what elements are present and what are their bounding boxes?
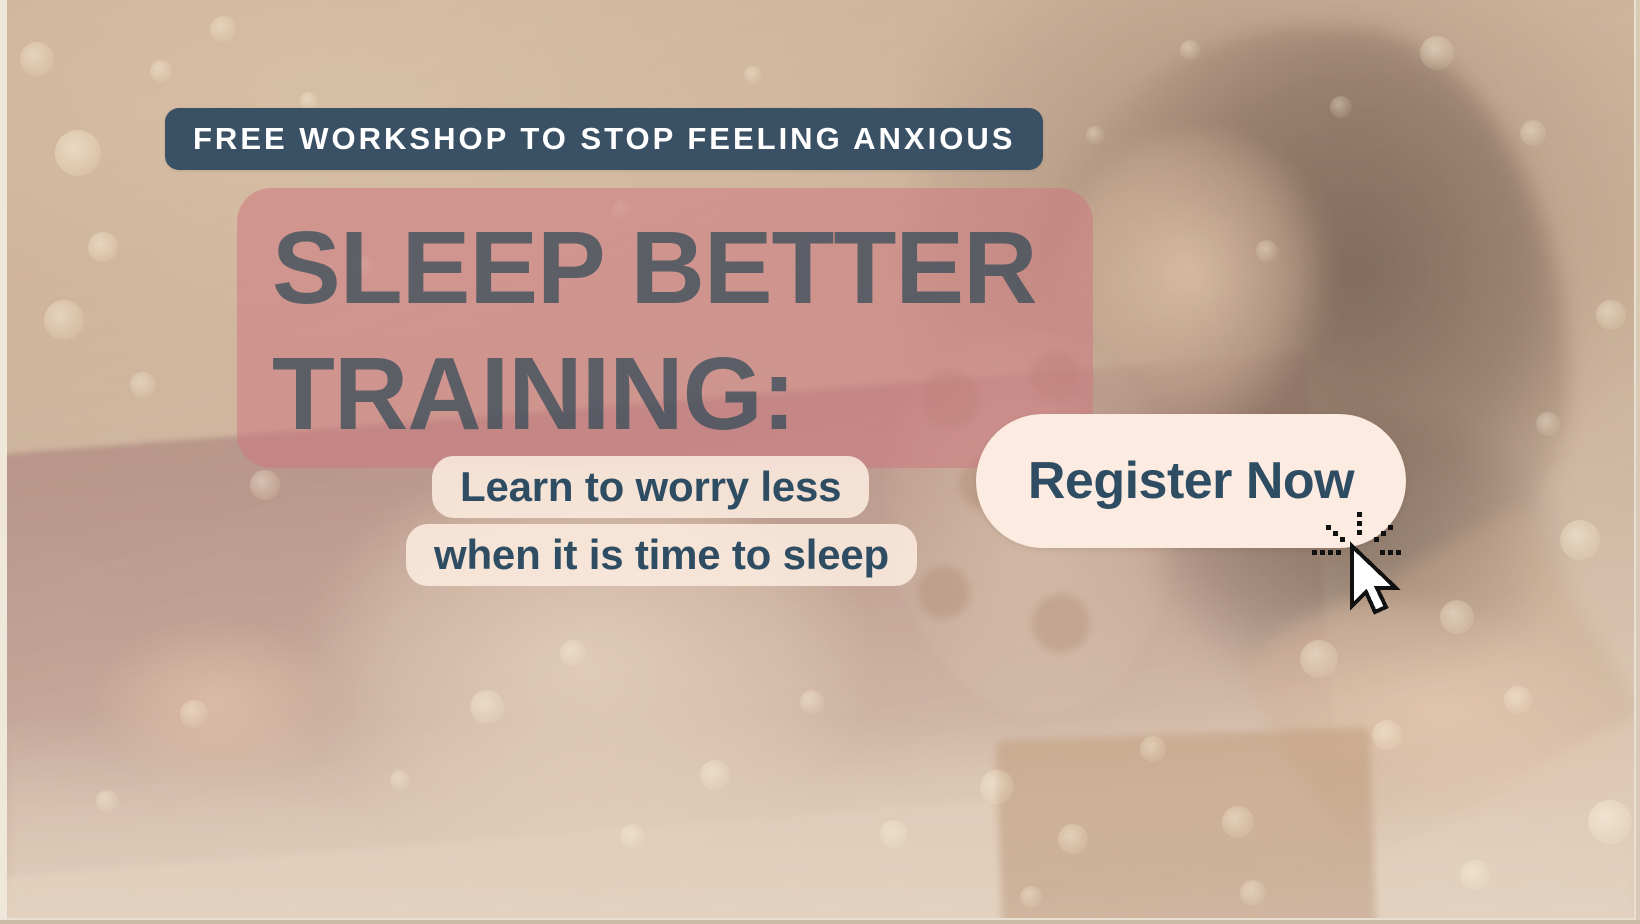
page-title: SLEEP BETTER TRAINING:	[272, 205, 1102, 457]
eyebrow-banner-label: FREE WORKSHOP TO STOP FEELING ANXIOUS	[193, 121, 1015, 157]
banner-canvas: FREE WORKSHOP TO STOP FEELING ANXIOUS SL…	[0, 0, 1640, 924]
subtitle-line-2: when it is time to sleep	[406, 524, 917, 586]
subtitle-line-1-label: Learn to worry less	[460, 463, 841, 511]
canvas-edge-bottom	[0, 920, 1640, 924]
eyebrow-banner: FREE WORKSHOP TO STOP FEELING ANXIOUS	[165, 108, 1043, 170]
register-now-button[interactable]: Register Now	[976, 414, 1406, 548]
subtitle-line-2-label: when it is time to sleep	[434, 531, 889, 579]
register-now-button-label: Register Now	[1028, 451, 1354, 511]
subtitle-line-1: Learn to worry less	[432, 456, 869, 518]
canvas-edge-right	[1636, 0, 1640, 924]
